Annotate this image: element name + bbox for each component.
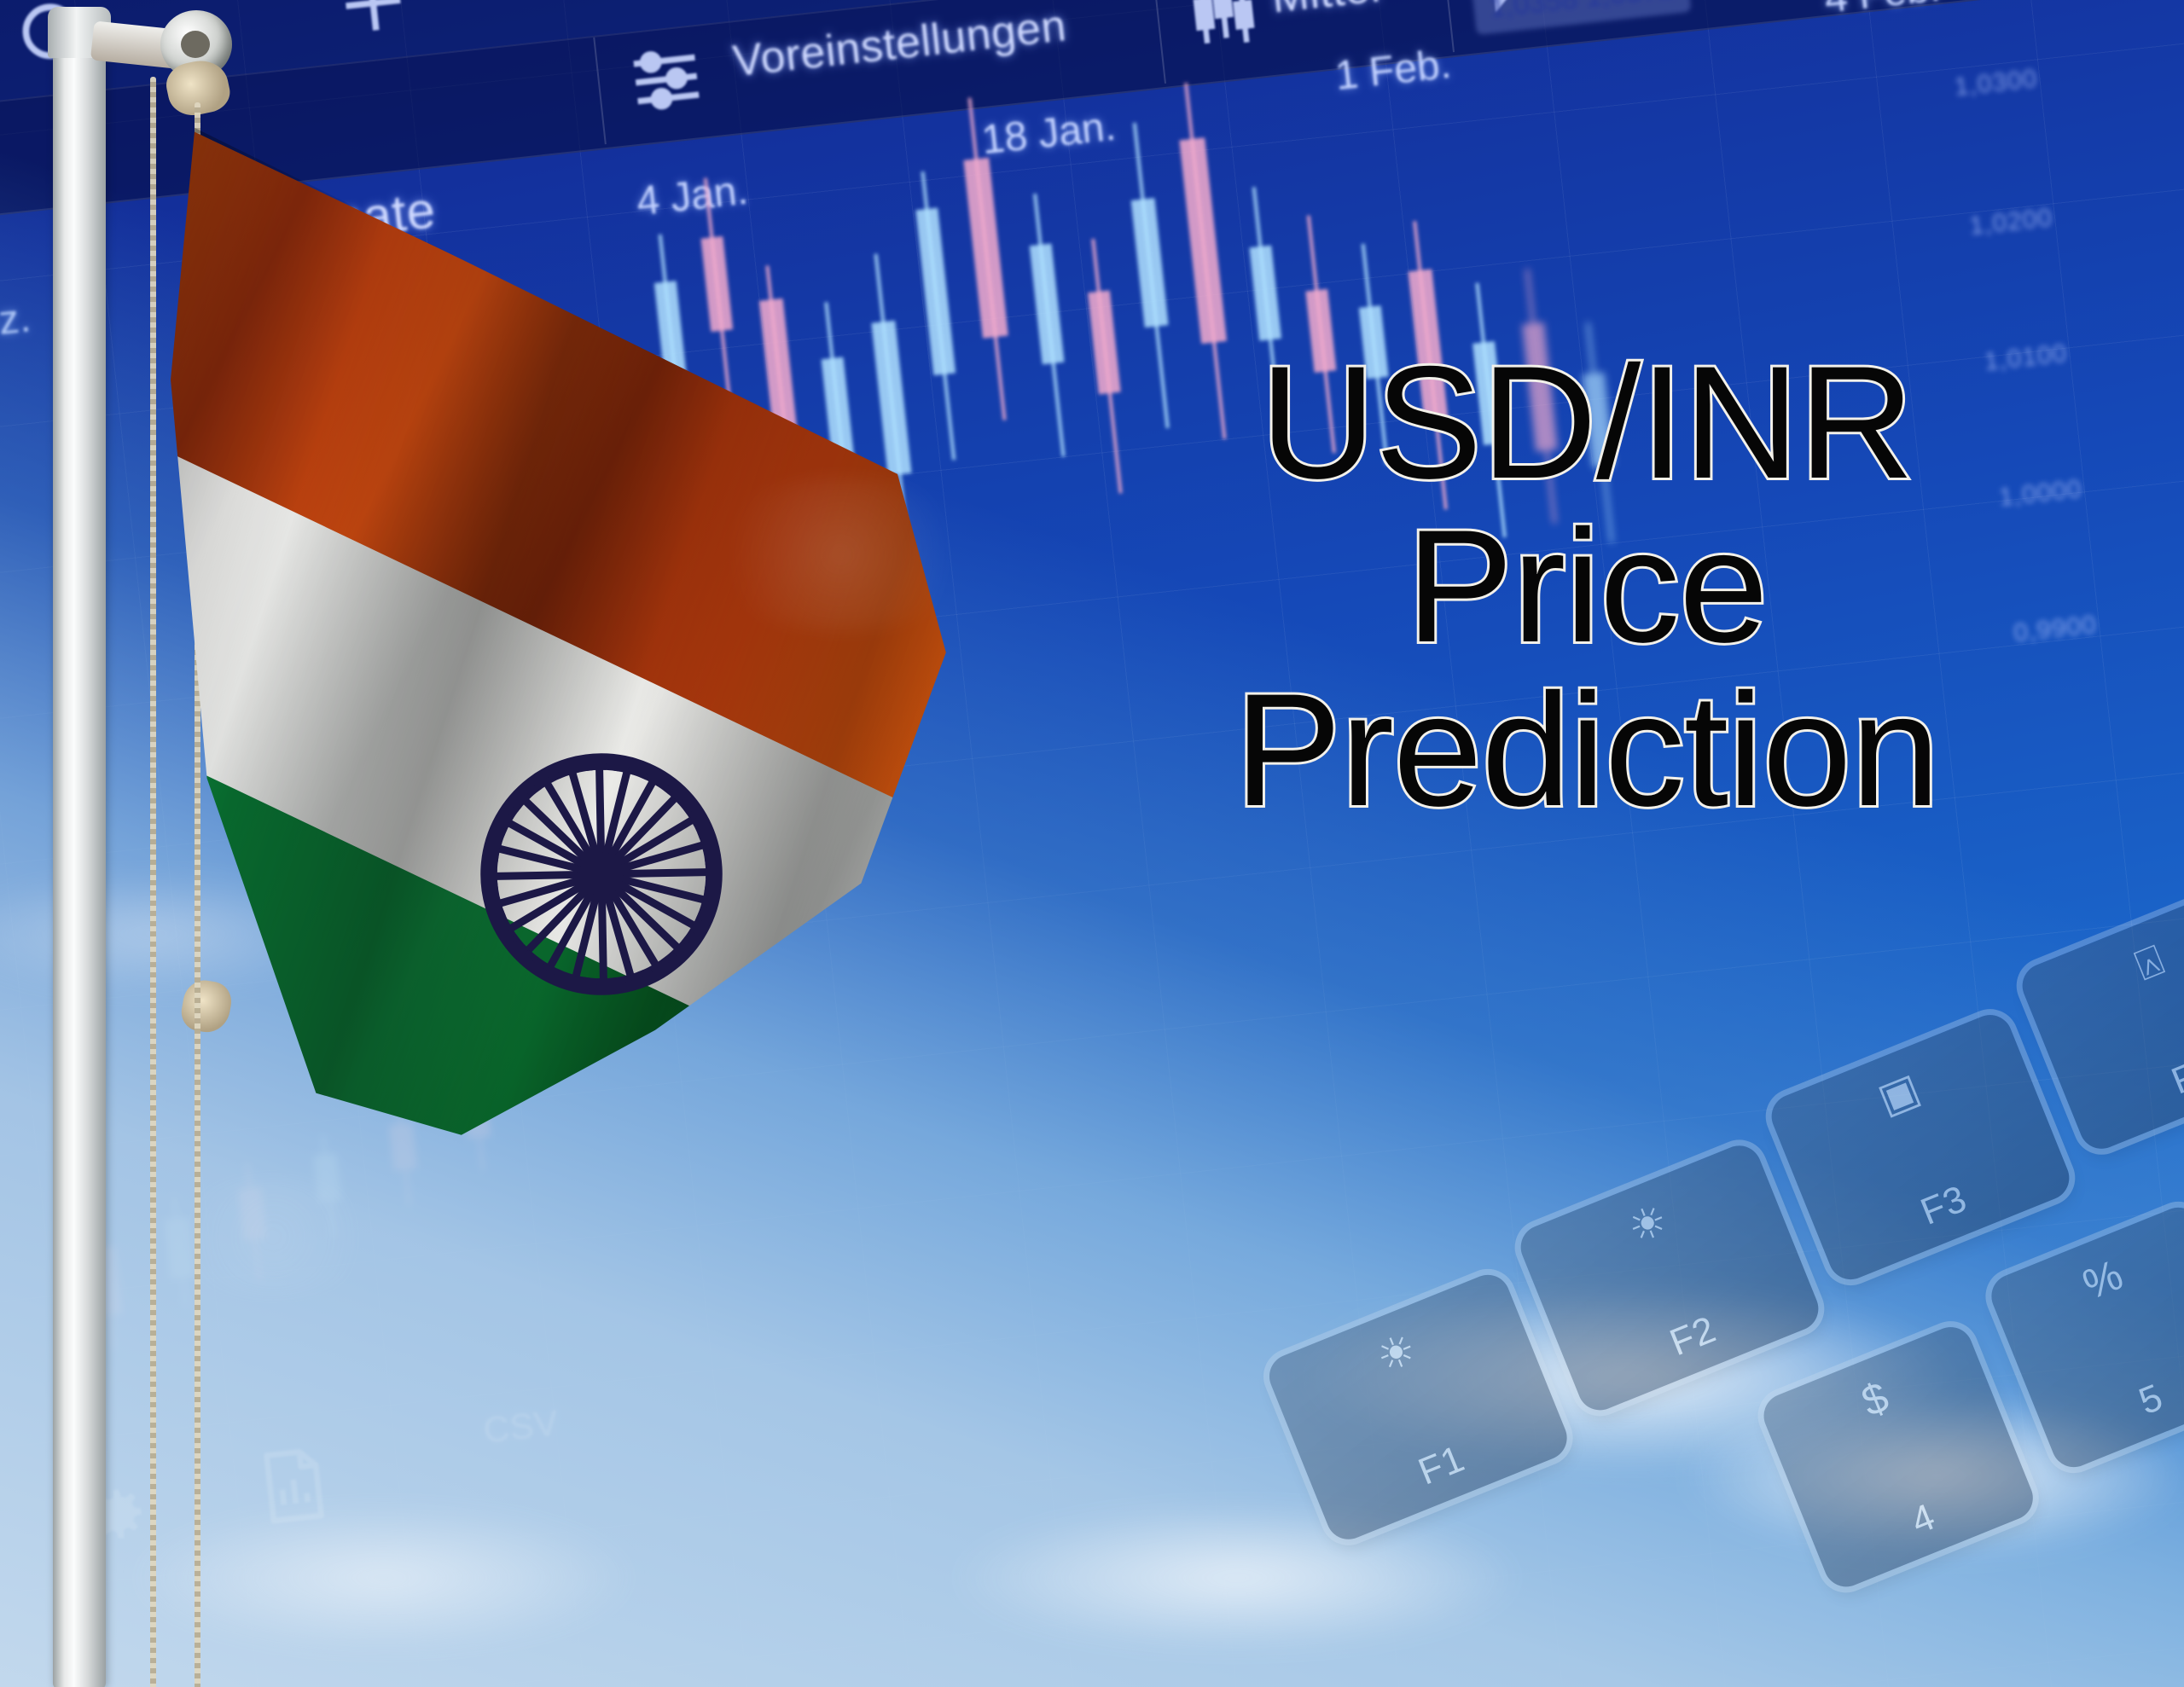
page-title: USD/INR Price Prediction <box>1058 341 2116 832</box>
flagpole <box>53 17 106 1687</box>
pulley-hub <box>181 31 210 58</box>
halyard-rope <box>150 77 156 1687</box>
india-flag-group <box>0 0 2184 1687</box>
page-title-line-2: Prediction <box>1058 669 2116 832</box>
page-title-line-1: USD/INR Price <box>1260 333 1914 675</box>
promo-banner: Voreinstellungen Mittel Forum 3 Monate a… <box>0 0 2184 1687</box>
halyard-knot <box>178 977 235 1036</box>
